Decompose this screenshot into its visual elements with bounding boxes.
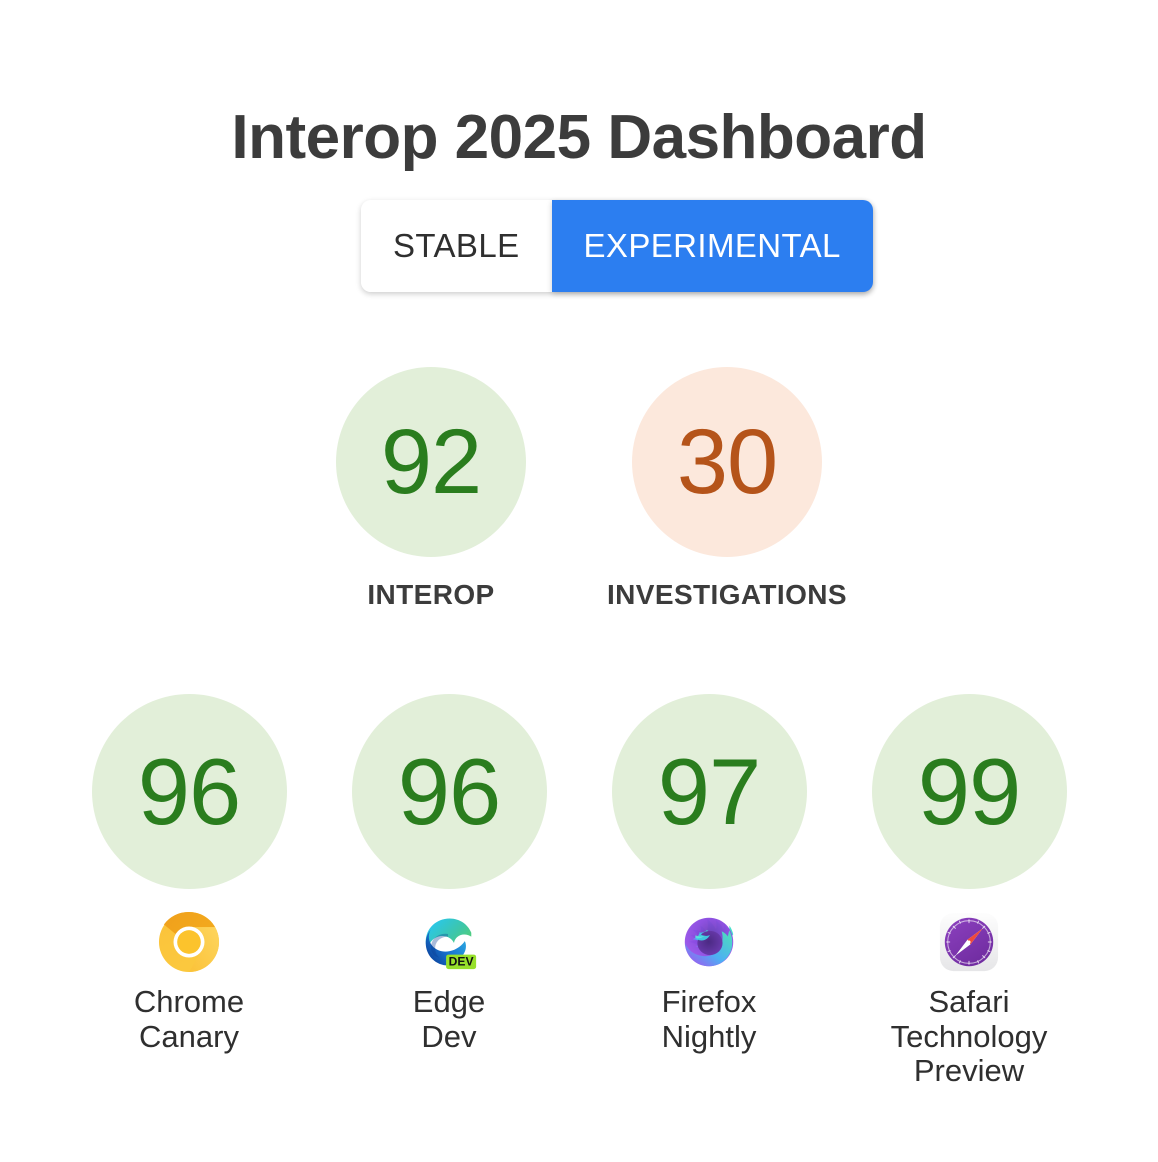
safari-technology-preview-label: Safari Technology Preview — [891, 985, 1048, 1089]
dashboard-page: Interop 2025 Dashboard STABLE EXPERIMENT… — [0, 0, 1158, 1162]
tab-stable[interactable]: STABLE — [361, 200, 552, 292]
firefox-nightly-label-line2: Nightly — [662, 1019, 757, 1054]
interop-label: INTEROP — [367, 579, 494, 611]
browser-card-chrome-canary[interactable]: 96 — [92, 694, 287, 1089]
browser-scores-row: 96 — [0, 694, 1158, 1089]
safari-label-line3: Preview — [914, 1053, 1024, 1088]
edge-dev-label-line2: Dev — [421, 1019, 476, 1054]
edge-dev-label: Edge Dev — [413, 985, 485, 1054]
tab-experimental[interactable]: EXPERIMENTAL — [552, 200, 873, 292]
firefox-nightly-label-line1: Firefox — [662, 984, 757, 1019]
browser-card-safari-technology-preview[interactable]: 99 — [872, 694, 1067, 1089]
edge-dev-label-line1: Edge — [413, 984, 485, 1019]
view-toggle-group: STABLE EXPERIMENTAL — [361, 200, 873, 292]
page-title: Interop 2025 Dashboard — [0, 104, 1158, 172]
safari-label-line2: Technology — [891, 1019, 1048, 1054]
summary-card-interop[interactable]: 92 INTEROP — [336, 367, 526, 611]
safari-technology-preview-score-circle: 99 — [872, 694, 1067, 889]
investigations-label: INVESTIGATIONS — [607, 579, 847, 611]
firefox-nightly-score-circle: 97 — [612, 694, 807, 889]
safari-technology-preview-icon — [938, 911, 1000, 973]
interop-score-circle: 92 — [336, 367, 526, 557]
chrome-canary-label-line1: Chrome — [134, 984, 244, 1019]
summary-scores-row: 92 INTEROP 30 INVESTIGATIONS — [0, 367, 1158, 611]
firefox-nightly-icon — [678, 911, 740, 973]
summary-card-investigations[interactable]: 30 INVESTIGATIONS — [632, 367, 822, 611]
safari-label-line1: Safari — [929, 984, 1010, 1019]
svg-text:DEV: DEV — [449, 955, 474, 969]
edge-dev-score-circle: 96 — [352, 694, 547, 889]
browser-card-edge-dev[interactable]: 96 DEV Edge Dev — [352, 694, 547, 1089]
chrome-canary-score-circle: 96 — [92, 694, 287, 889]
firefox-nightly-label: Firefox Nightly — [662, 985, 757, 1054]
edge-dev-icon: DEV — [418, 911, 480, 973]
browser-card-firefox-nightly[interactable]: 97 — [612, 694, 807, 1089]
chrome-canary-label-line2: Canary — [139, 1019, 239, 1054]
investigations-score-circle: 30 — [632, 367, 822, 557]
chrome-canary-label: Chrome Canary — [134, 985, 244, 1054]
chrome-canary-icon — [158, 911, 220, 973]
